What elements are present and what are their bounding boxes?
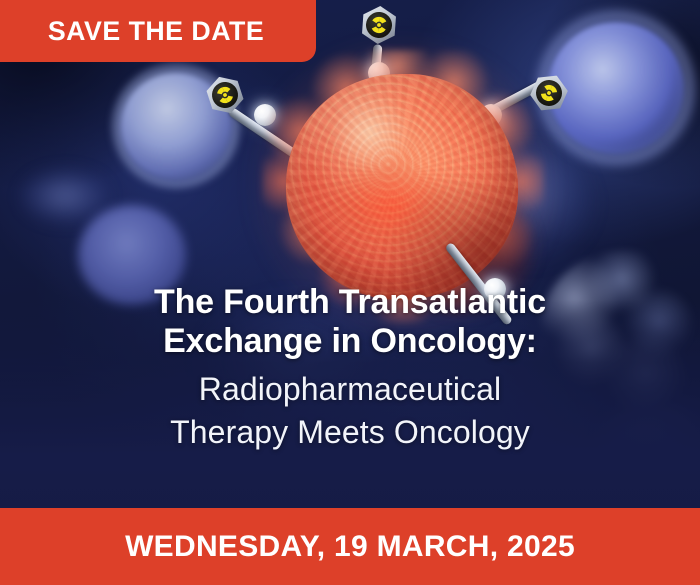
- event-title-line-2: Exchange in Oncology:: [24, 322, 676, 361]
- event-title-block: The Fourth Transatlantic Exchange in Onc…: [0, 283, 700, 454]
- save-the-date-poster: SAVE THE DATE The Fourth Transatlantic E…: [0, 0, 700, 585]
- event-date-bar: WEDNESDAY, 19 MARCH, 2025: [0, 508, 700, 585]
- radiation-trefoil-icon: [359, 5, 400, 46]
- event-date-label: WEDNESDAY, 19 MARCH, 2025: [125, 530, 575, 564]
- event-title-line-1: The Fourth Transatlantic: [24, 283, 676, 322]
- event-subtitle-line-1: Radiopharmaceutical: [24, 368, 676, 411]
- save-the-date-label: SAVE THE DATE: [1, 16, 264, 47]
- save-the-date-banner: SAVE THE DATE: [0, 0, 316, 62]
- event-subtitle-line-2: Therapy Meets Oncology: [24, 411, 676, 454]
- tumor-cell-illustration: [272, 62, 534, 312]
